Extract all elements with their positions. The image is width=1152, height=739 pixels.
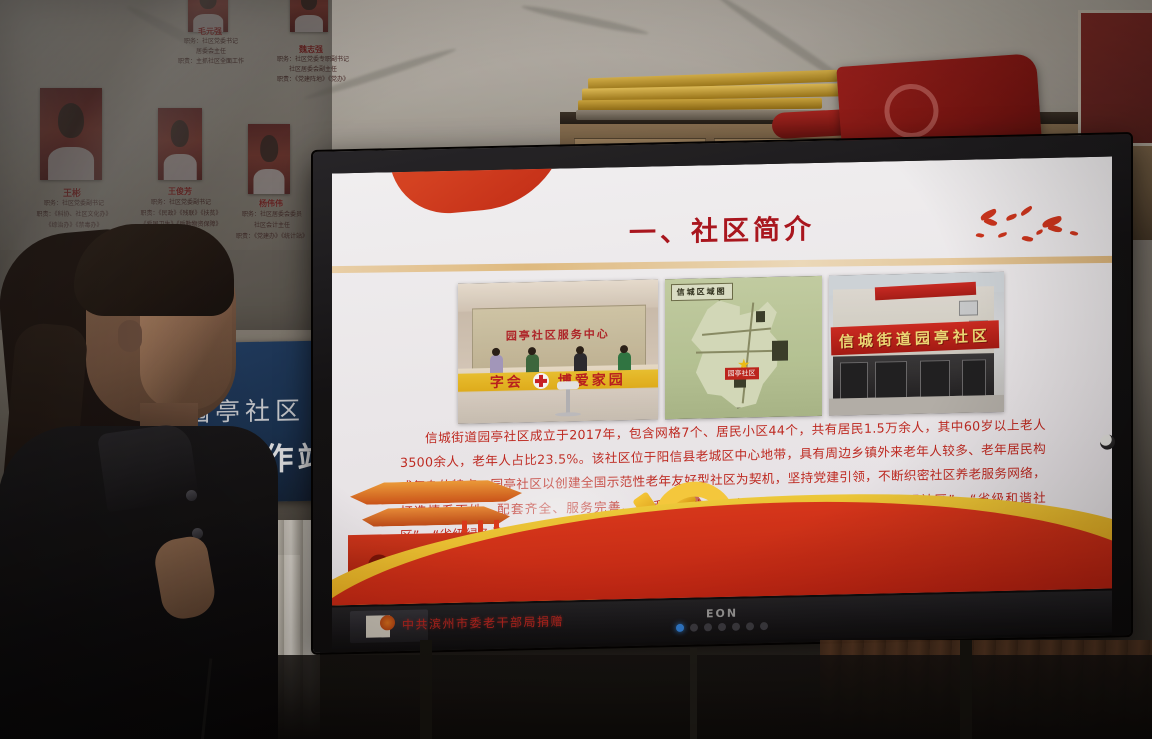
interactive-flat-panel[interactable]: 一、社区简介 bbox=[313, 134, 1131, 653]
photo-service-center: 园亭社区服务中心 字会 博爱家园 bbox=[458, 279, 658, 423]
slide-photo-row: 园亭社区服务中心 字会 博爱家园 bbox=[458, 272, 1004, 424]
display-stand-leg bbox=[420, 640, 432, 739]
map-caption: 信城区域图 bbox=[671, 283, 733, 301]
display-stand-leg bbox=[960, 640, 972, 739]
screen-area[interactable]: 一、社区简介 bbox=[332, 156, 1112, 605]
slide-bottom-decoration bbox=[332, 438, 1112, 605]
coat-button bbox=[186, 490, 197, 501]
brand-logo: EON bbox=[706, 607, 738, 621]
gold-divider-line bbox=[332, 256, 1112, 273]
stool bbox=[566, 387, 570, 413]
coat-collar bbox=[97, 422, 199, 512]
map-marker-label: 园亭社区 bbox=[725, 367, 759, 380]
status-led-row bbox=[676, 622, 768, 632]
photo-district-map: 信城区域图 ★ 园亭社区 bbox=[665, 276, 823, 419]
red-ribbon-corner bbox=[387, 156, 573, 218]
ir-remote-sensor bbox=[1100, 434, 1115, 449]
building-sign-text: 信城街道园亭社区 bbox=[839, 324, 991, 351]
banner-text-left: 字会 bbox=[490, 371, 524, 392]
hair-top bbox=[74, 224, 234, 316]
display-stand-post bbox=[690, 648, 697, 739]
powerpoint-slide: 一、社区简介 bbox=[332, 156, 1112, 605]
framed-certificate bbox=[1078, 10, 1152, 146]
photo-scene: 王彬 职务：社区党委副书记 职责：《科协、社区文化办》 《综治办》《禁毒办》 王… bbox=[0, 0, 1152, 739]
presenter-person bbox=[0, 228, 275, 739]
donation-label: 中共滨州市委老干部局捐赠 bbox=[402, 612, 564, 633]
ear bbox=[118, 320, 142, 352]
service-center-caption: 园亭社区服务中心 bbox=[506, 325, 610, 343]
red-cross-icon bbox=[533, 372, 549, 388]
photo-street-office: 信城街道园亭社区 bbox=[829, 272, 1004, 416]
flying-birds-icon bbox=[970, 201, 1090, 252]
